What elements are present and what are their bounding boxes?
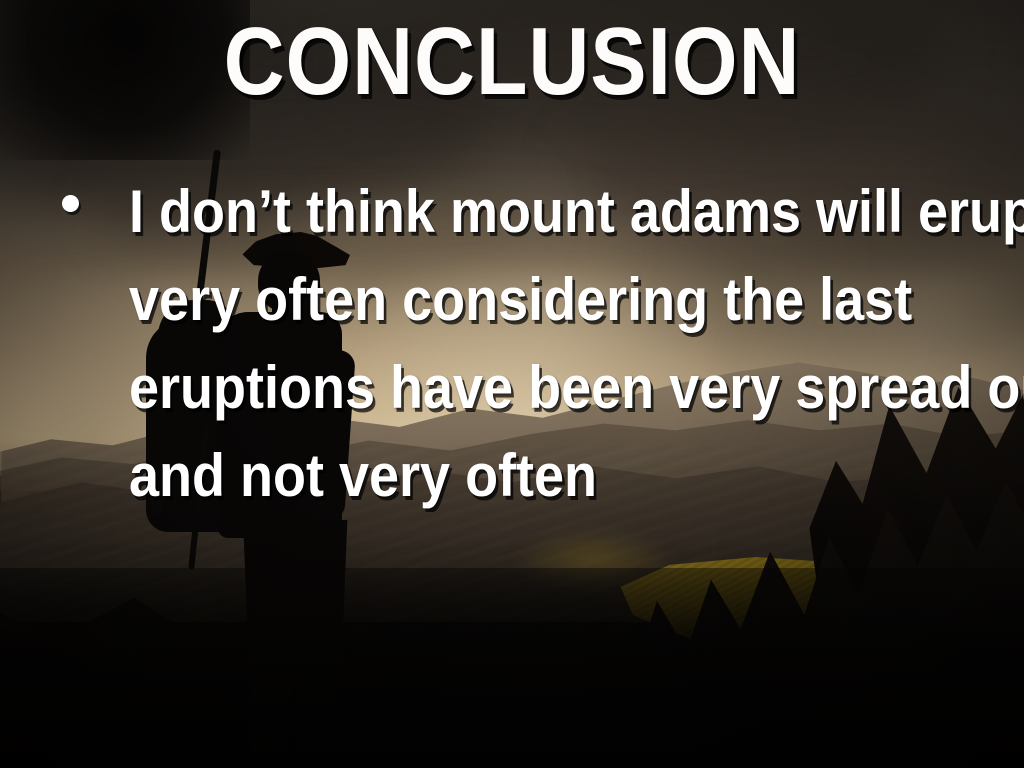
slide-content: CONCLUSION I don’t think mount adams wil… <box>0 0 1024 768</box>
slide-title: CONCLUSION <box>61 14 962 110</box>
bullet-text-line: and not very often <box>129 432 1024 520</box>
bullet-text-line: I don’t think mount adams will erupt <box>129 168 1024 256</box>
bullet-text-line: very often considering the last <box>129 256 1024 344</box>
bullet-text: I don’t think mount adams will erupt ver… <box>129 168 1024 520</box>
bullet-text-line: eruptions have been very spread out <box>129 344 1024 432</box>
bullet-dot-icon <box>62 195 79 212</box>
bullet-list-item: I don’t think mount adams will erupt ver… <box>56 168 936 520</box>
presentation-slide: CONCLUSION I don’t think mount adams wil… <box>0 0 1024 768</box>
